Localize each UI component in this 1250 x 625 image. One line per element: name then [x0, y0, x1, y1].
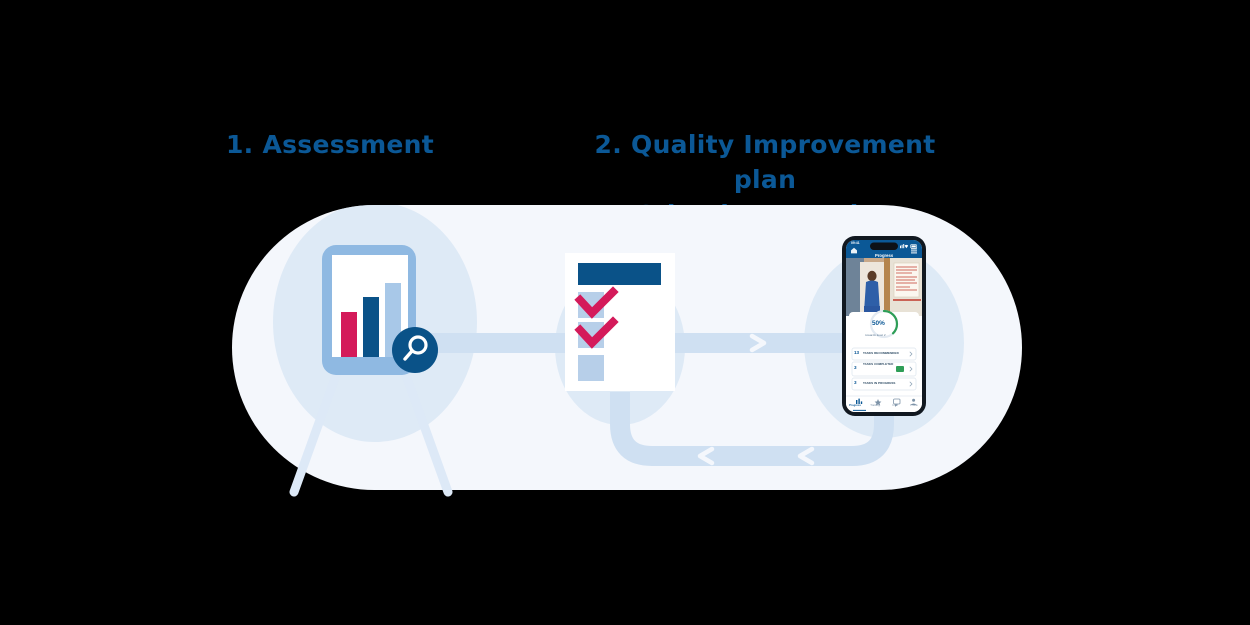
task-row-2-label: TASKS COMPLETED — [863, 363, 893, 366]
task-row-1-label: TASKS RECOMMENDED — [863, 352, 899, 355]
task-row-1-count: 13 — [854, 351, 859, 356]
bar-1 — [341, 312, 357, 357]
diagram-stage: 1. Assessment 2. Quality Improvement pla… — [0, 0, 1250, 625]
task-row-2-count: 3 — [854, 366, 857, 371]
phone-app-title: Progress — [875, 254, 893, 258]
document-header-bar — [578, 263, 661, 285]
phone-status-time: 09:41 — [851, 242, 860, 245]
progress-percent-label: 50% — [872, 321, 885, 327]
phone-tab-profile[interactable]: Profile — [904, 405, 924, 408]
phone-tab-training[interactable]: Training — [865, 405, 885, 408]
phone-text-overlay: 09:41 Progress 50% towards level 2 13 TA… — [842, 236, 926, 416]
bar-2 — [363, 297, 379, 357]
process-diagram — [0, 0, 1250, 625]
checklist-item-3[interactable] — [578, 355, 604, 381]
stage-qi-plan[interactable] — [565, 253, 675, 391]
task-row-3-count: 3 — [854, 381, 857, 386]
task-row-3-label: TASKS IN PROGRESS — [863, 382, 895, 385]
phone-tab-progress[interactable]: Progress — [845, 405, 865, 408]
progress-subtitle: towards level 2 — [865, 334, 886, 337]
magnifier-badge[interactable] — [392, 327, 438, 373]
phone-tab-chat[interactable]: Chat — [885, 405, 905, 408]
